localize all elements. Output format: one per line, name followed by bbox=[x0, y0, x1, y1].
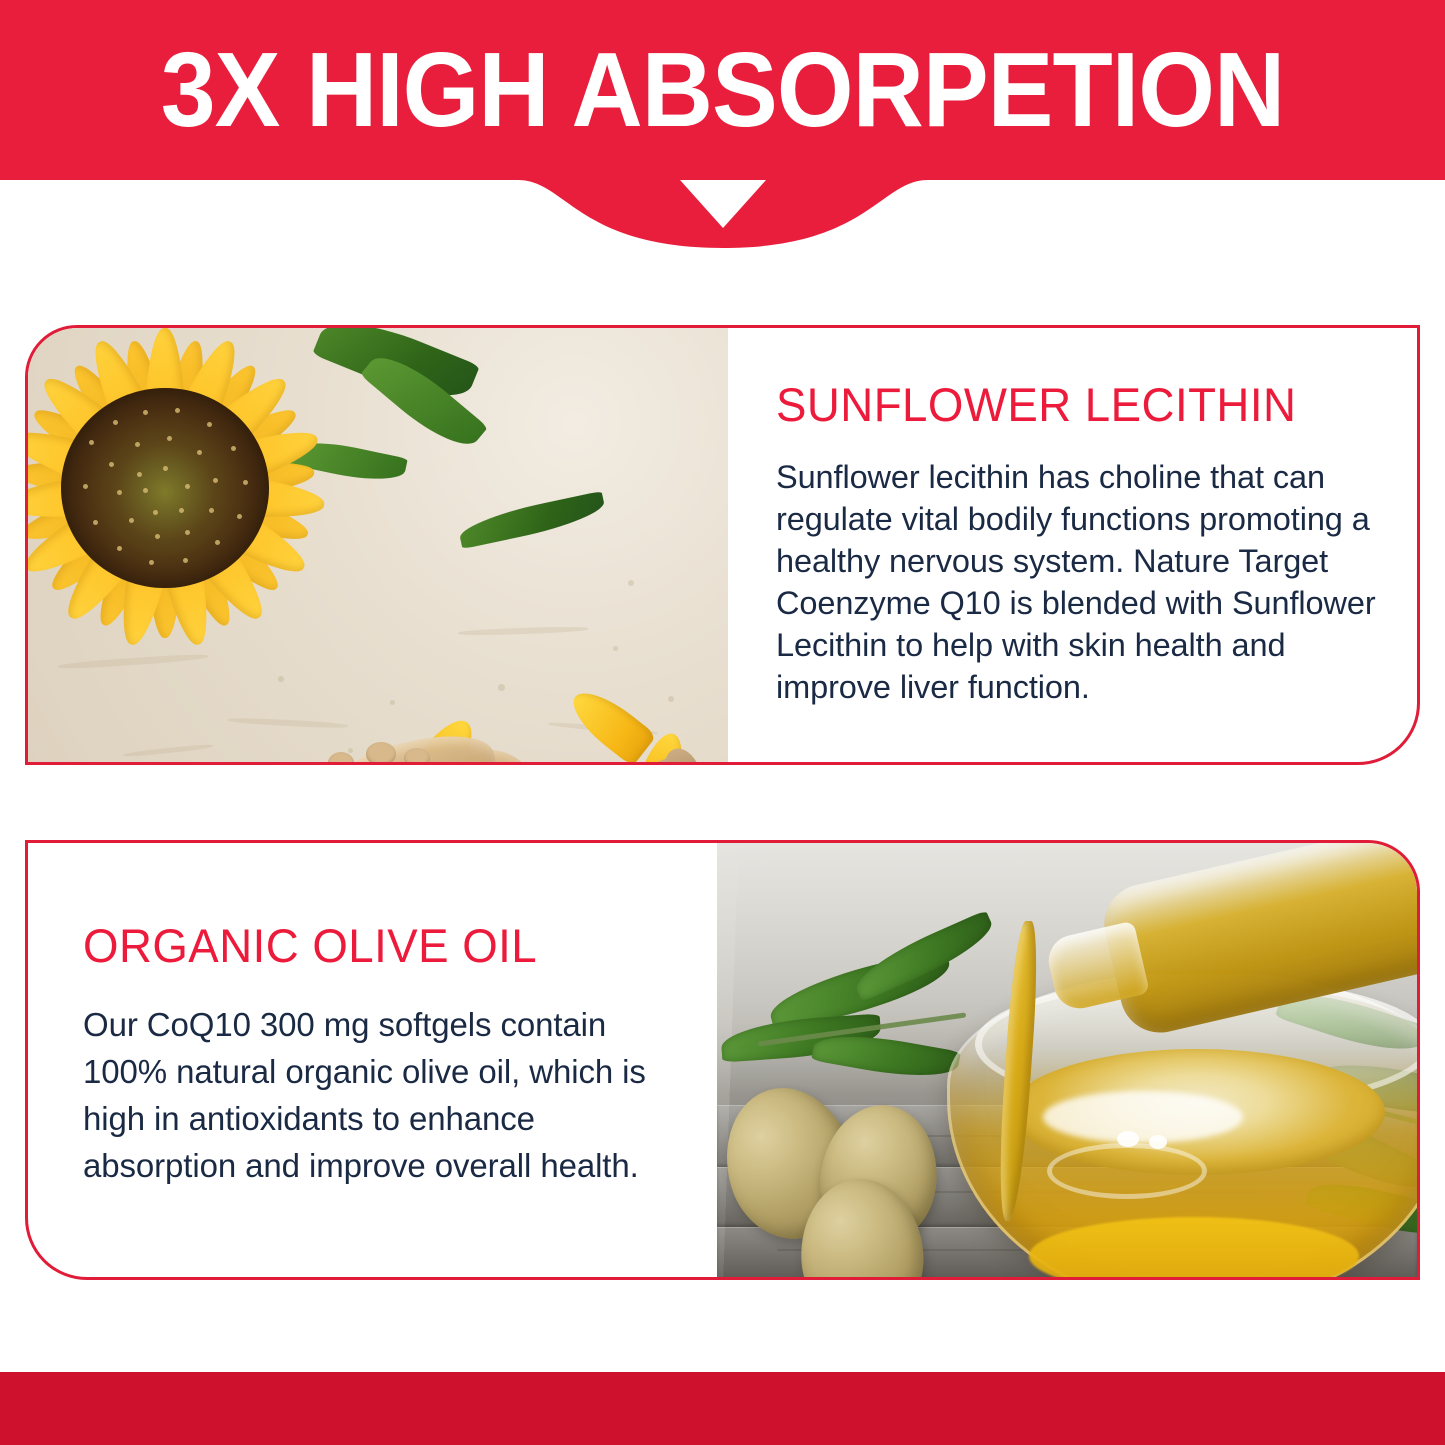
card-sunflower-lecithin: SUNFLOWER LECITHIN Sunflower lecithin ha… bbox=[25, 325, 1420, 765]
organic-olive-oil-image bbox=[717, 843, 1417, 1277]
organic-olive-oil-text-block: ORGANIC OLIVE OIL Our CoQ10 300 mg softg… bbox=[28, 843, 718, 1277]
card-body-sunflower-lecithin: Sunflower lecithin has choline that can … bbox=[776, 456, 1380, 708]
sunflower-graphic bbox=[28, 328, 380, 703]
footer-bar bbox=[0, 1372, 1445, 1445]
header-banner: 3X HIGH ABSORPETION bbox=[0, 0, 1445, 265]
card-heading-organic-olive-oil: ORGANIC OLIVE OIL bbox=[83, 921, 660, 971]
card-heading-sunflower-lecithin: SUNFLOWER LECITHIN bbox=[776, 380, 1362, 430]
oil-splash-ring bbox=[1047, 1143, 1207, 1199]
page-title: 3X HIGH ABSORPETION bbox=[51, 36, 1395, 144]
sunflower-lecithin-text-block: SUNFLOWER LECITHIN Sunflower lecithin ha… bbox=[728, 328, 1420, 762]
card-body-organic-olive-oil: Our CoQ10 300 mg softgels contain 100% n… bbox=[83, 1001, 678, 1189]
sunflower-lecithin-image bbox=[28, 328, 728, 762]
card-organic-olive-oil: ORGANIC OLIVE OIL Our CoQ10 300 mg softg… bbox=[25, 840, 1420, 1280]
